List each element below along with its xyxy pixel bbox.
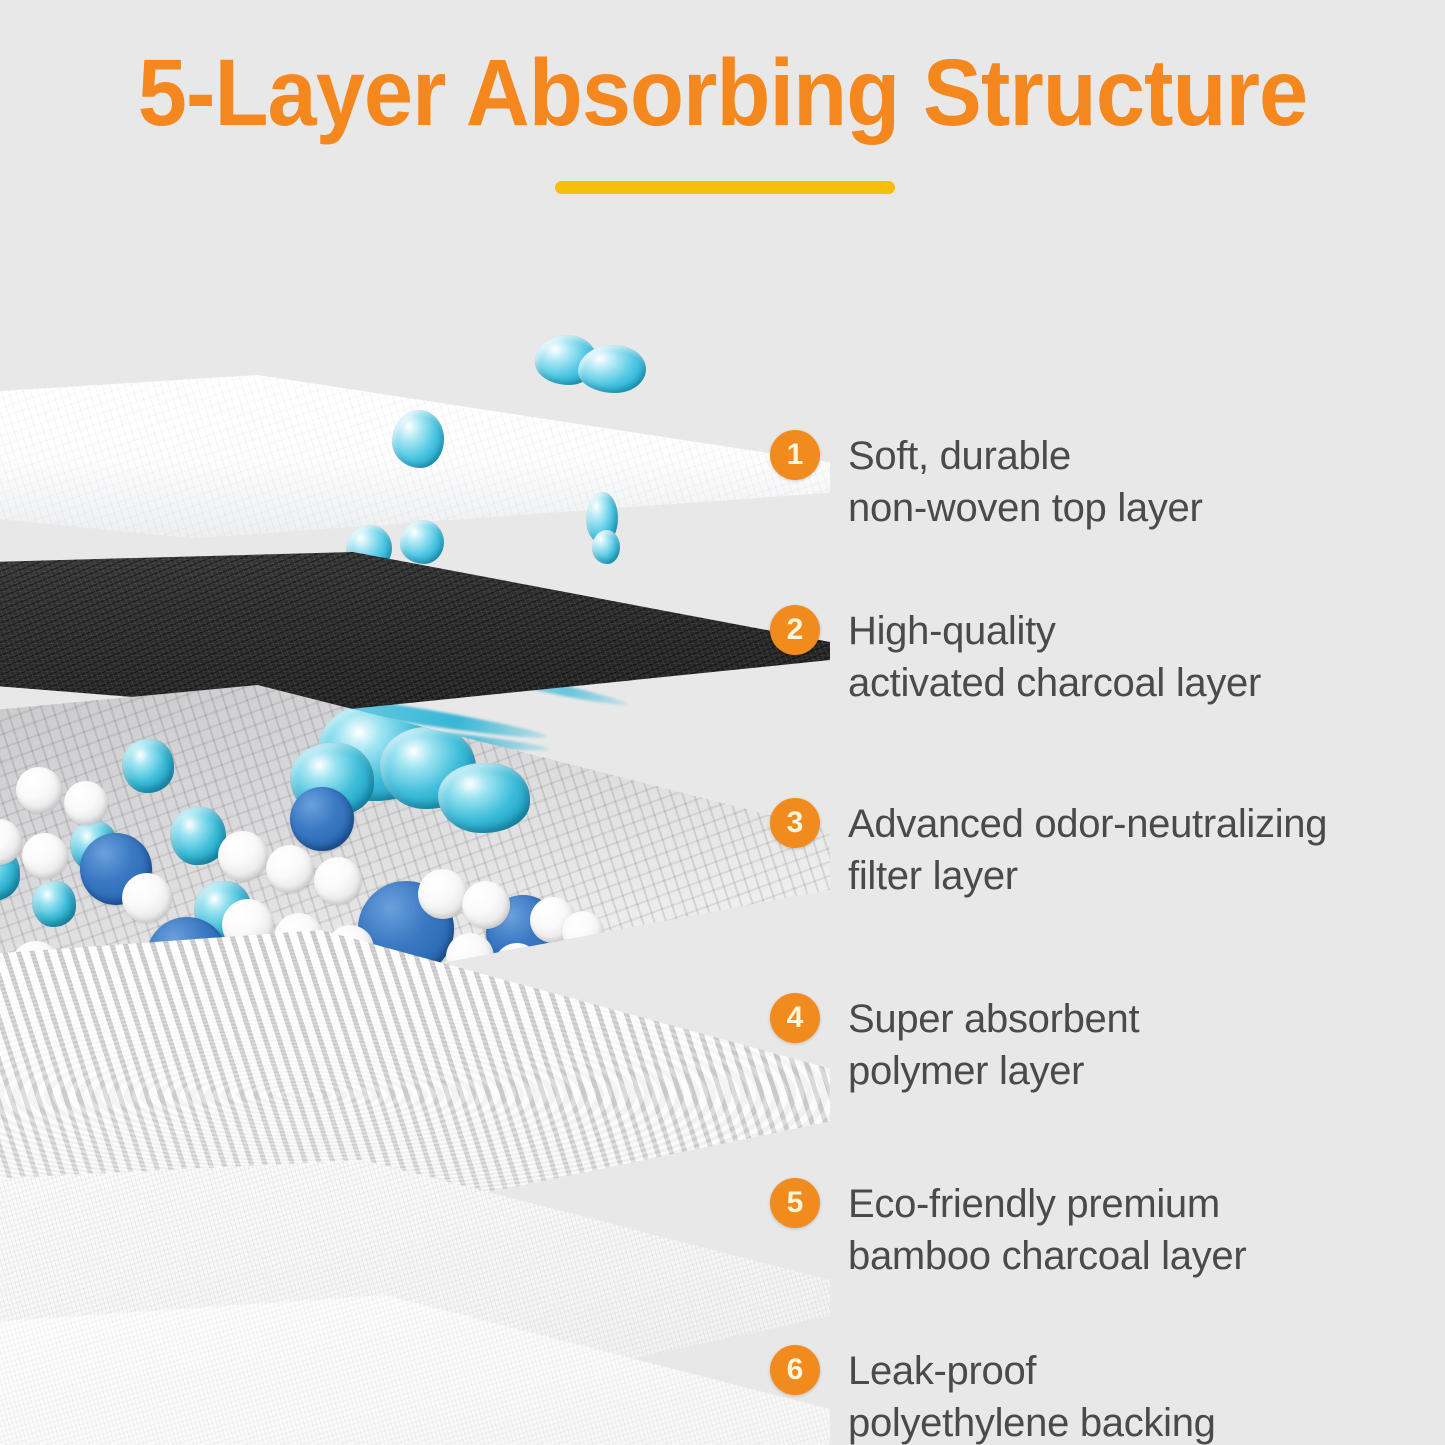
polymer-bead-white (22, 833, 68, 879)
callout-text-5: Eco-friendly premium bamboo charcoal lay… (848, 1178, 1246, 1282)
callout-badge-5: 5 (770, 1178, 820, 1228)
callout-text-4: Super absorbent polymer layer (848, 993, 1139, 1097)
callout-text-3: Advanced odor-neutralizing filter layer (848, 798, 1327, 902)
callout-item-2: 2 High-quality activated charcoal layer (770, 605, 1445, 709)
water-droplet (392, 410, 444, 468)
callout-badge-1: 1 (770, 430, 820, 480)
callout-badge-4: 4 (770, 993, 820, 1043)
callout-item-1: 1 Soft, durable non-woven top layer (770, 430, 1445, 534)
callout-text-6: Leak-proof polyethylene backing (848, 1345, 1216, 1445)
water-droplet (592, 530, 620, 564)
absorbed-gel-cluster (122, 739, 174, 793)
polymer-bead-white (64, 781, 108, 825)
polymer-bead-white (562, 911, 604, 953)
callout-item-6: 6 Leak-proof polyethylene backing (770, 1345, 1445, 1445)
water-droplet (400, 520, 444, 564)
polymer-bead-blue (290, 787, 354, 851)
callout-item-4: 4 Super absorbent polymer layer (770, 993, 1445, 1097)
polymer-bead-white (218, 831, 268, 881)
polymer-bead-white (122, 873, 172, 923)
callout-item-3: 3 Advanced odor-neutralizing filter laye… (770, 798, 1445, 902)
absorbed-gel-cluster (438, 763, 530, 833)
callout-badge-3: 3 (770, 798, 820, 848)
callout-badge-6: 6 (770, 1345, 820, 1395)
polymer-bead-white (418, 869, 468, 919)
infographic-page: 5-Layer Absorbing Structure (0, 0, 1445, 1445)
polymer-bead-white (266, 845, 314, 893)
polymer-bead-white (462, 881, 510, 929)
product-layer-illustration (0, 230, 830, 1445)
water-droplet (578, 345, 646, 393)
polymer-bead-white (314, 857, 362, 905)
callout-text-1: Soft, durable non-woven top layer (848, 430, 1203, 534)
callout-text-2: High-quality activated charcoal layer (848, 605, 1261, 709)
callout-item-5: 5 Eco-friendly premium bamboo charcoal l… (770, 1178, 1445, 1282)
callout-list: 1 Soft, durable non-woven top layer 2 Hi… (770, 0, 1445, 1445)
absorbed-gel-cluster (32, 881, 76, 927)
polymer-bead-white (16, 767, 62, 813)
callout-badge-2: 2 (770, 605, 820, 655)
